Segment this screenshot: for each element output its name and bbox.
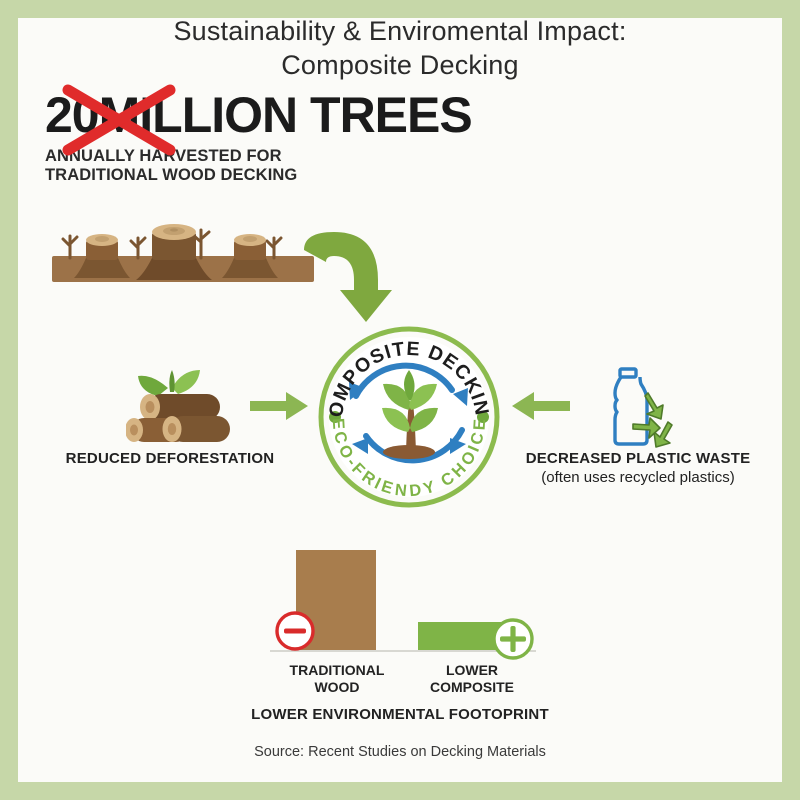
benefit-right-label: DECREASED PLASTIC WASTE: [498, 450, 778, 467]
plastic-bottle-recycle-icon: [598, 366, 678, 448]
stat-subtext-line-2: TRADITIONAL WOOD DECKING: [45, 166, 475, 185]
stat-number-and-unit: 20MILLION TREES: [45, 88, 472, 142]
curved-arrow-down-icon: [300, 228, 430, 328]
minus-badge-icon: [274, 610, 316, 652]
stat-number: 20: [45, 87, 99, 143]
bar-label-wood-line-1: TRADITIONAL: [272, 662, 402, 679]
footprint-bar-chart: [262, 540, 542, 660]
stat-headline: 20MILLION TREES ANNUALLY HARVESTED FOR T…: [45, 88, 475, 185]
bar-label-comp-line-1: LOWER: [412, 662, 532, 679]
tree-stumps-icon: [48, 218, 318, 288]
infographic-canvas: Sustainability & Enviromental Impact: Co…: [0, 0, 800, 800]
recycle-symbol: [633, 393, 672, 447]
arrow-left-icon: [510, 390, 570, 422]
benefit-left-label: REDUCED DEFORESTATION: [20, 450, 320, 467]
stat-subtext-line-1: ANNUALLY HARVESTED FOR: [45, 147, 475, 166]
arrow-right-icon: [250, 390, 310, 422]
plus-badge-icon: [490, 616, 536, 662]
bar-chart-labels: TRADITIONAL WOOD LOWER COMPOSITE: [262, 662, 542, 706]
benefit-right-label-group: DECREASED PLASTIC WASTE (often uses recy…: [498, 450, 778, 486]
title-line-2: Composite Decking: [0, 48, 800, 82]
bar-label-lower-composite: LOWER COMPOSITE: [412, 662, 532, 696]
source-text: Source: Recent Studies on Decking Materi…: [140, 744, 660, 760]
stat-unit: MILLION TREES: [99, 87, 472, 143]
page-title: Sustainability & Enviromental Impact: Co…: [0, 14, 800, 82]
bar-label-wood-line-2: WOOD: [272, 679, 402, 696]
bar-label-traditional-wood: TRADITIONAL WOOD: [272, 662, 402, 696]
footprint-caption: LOWER ENVIRONMENTAL FOOTOPRINT: [140, 706, 660, 723]
stat-number-row: 20MILLION TREES: [45, 88, 475, 144]
bottle-outline: [615, 369, 647, 444]
log-bottom-right: [163, 416, 231, 442]
bar-label-comp-line-2: COMPOSITE: [412, 679, 532, 696]
title-line-1: Sustainability & Enviromental Impact:: [0, 14, 800, 48]
composite-decking-badge: COMPOSITE DECKING ECO-FRIENDY CHOICE: [316, 324, 502, 510]
benefit-right-sublabel: (often uses recycled plastics): [498, 469, 778, 486]
stat-subtext: ANNUALLY HARVESTED FOR TRADITIONAL WOOD …: [45, 147, 475, 185]
log-stack-icon: [126, 364, 236, 446]
